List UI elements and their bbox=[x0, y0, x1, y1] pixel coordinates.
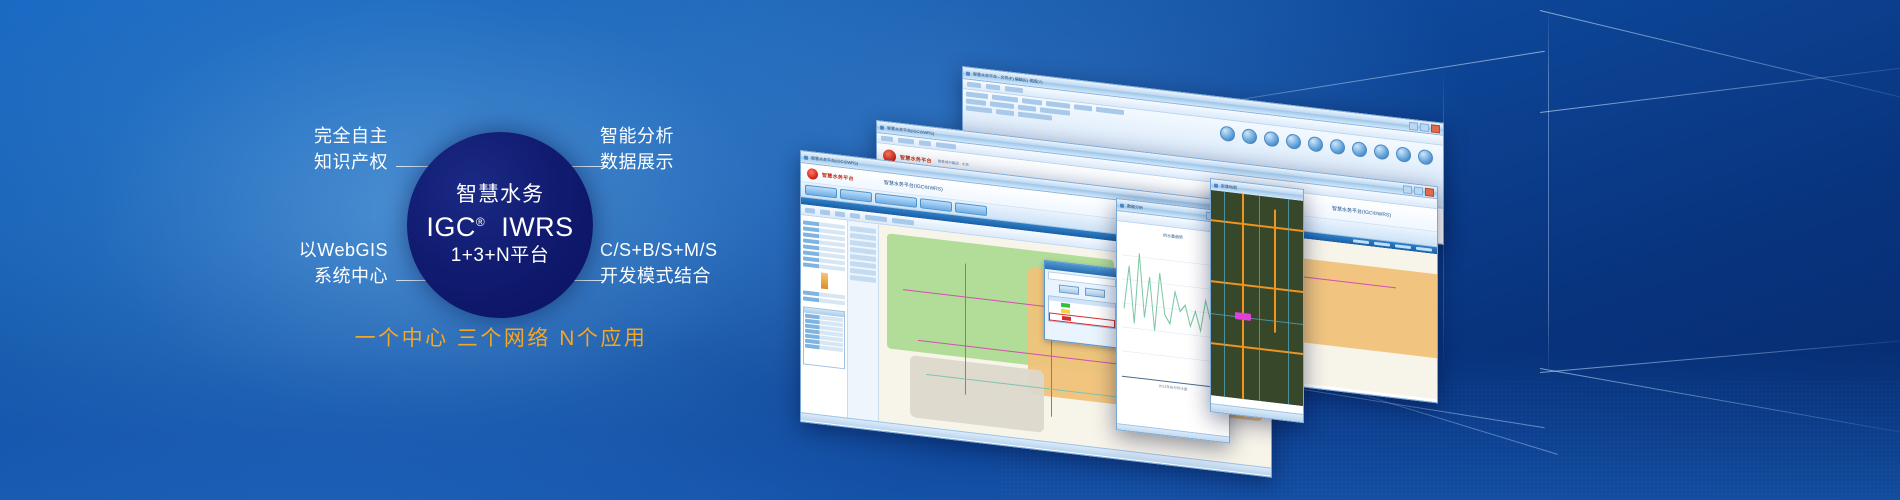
tagline: 一个中心 三个网络 N个应用 bbox=[286, 322, 716, 352]
grid-line-upper-right bbox=[1540, 60, 1900, 113]
menu-item[interactable] bbox=[881, 136, 893, 142]
maximize-icon[interactable] bbox=[1414, 186, 1423, 195]
ribbon-chip[interactable] bbox=[996, 109, 1014, 116]
banner-stage: 智慧水务平台 - 文件(F) 编辑(E) 视图(V) bbox=[0, 0, 1900, 500]
map-region-gray bbox=[910, 355, 1043, 432]
ribbon-chip[interactable] bbox=[1074, 104, 1092, 111]
feature-bottom-right-line2: 开发模式结合 bbox=[600, 264, 718, 290]
brand-label: 智慧水务平台 bbox=[822, 171, 854, 182]
help-icon[interactable] bbox=[1418, 149, 1433, 166]
tool-zoom-out[interactable] bbox=[835, 211, 845, 217]
feature-bottom-left: 以WebGIS 系统中心 bbox=[218, 238, 388, 289]
gis-layer-icon[interactable] bbox=[1220, 125, 1235, 142]
badge-cn-name: 智慧水务 bbox=[456, 183, 544, 207]
dialog-supply-grading[interactable] bbox=[1044, 260, 1120, 349]
badge-platform: 1+3+N平台 bbox=[451, 245, 550, 266]
window-icon bbox=[1120, 203, 1124, 207]
feature-top-right: 智能分析 数据展示 bbox=[600, 124, 674, 175]
window-icon bbox=[804, 155, 808, 159]
feature-top-right-line2: 数据展示 bbox=[600, 150, 674, 176]
water-line bbox=[1288, 199, 1289, 404]
tool-pan[interactable] bbox=[805, 207, 815, 213]
sub-tab-extra2[interactable] bbox=[1416, 247, 1432, 252]
window-stack: 智慧水务平台 - 文件(F) 编辑(E) 视图(V) bbox=[780, 30, 1460, 460]
inspection-icon[interactable] bbox=[1352, 141, 1367, 158]
print-icon[interactable] bbox=[1330, 138, 1345, 155]
statistics-icon[interactable] bbox=[1286, 133, 1301, 150]
menu-item[interactable] bbox=[936, 142, 956, 149]
window-icon bbox=[880, 125, 884, 129]
grid-line-mid-right bbox=[1540, 368, 1900, 444]
ribbon-chip[interactable] bbox=[966, 105, 992, 113]
sub-tab-online[interactable] bbox=[1374, 242, 1390, 247]
alarm-icon[interactable] bbox=[1264, 131, 1279, 148]
nav-button-gis[interactable] bbox=[875, 193, 917, 208]
window-icon bbox=[1214, 183, 1218, 187]
water-line bbox=[1224, 192, 1225, 397]
window-satellite[interactable]: 影像地图 bbox=[1210, 178, 1304, 423]
sub-tab-extra[interactable] bbox=[1395, 244, 1411, 249]
feature-top-left-line1: 完全自主 bbox=[218, 124, 388, 150]
minimize-icon[interactable] bbox=[1409, 121, 1418, 130]
menu-item[interactable] bbox=[967, 82, 981, 89]
dialog-confirm-button[interactable] bbox=[1059, 285, 1079, 295]
window-controls[interactable] bbox=[1403, 185, 1434, 197]
tool-select[interactable] bbox=[850, 212, 860, 218]
road-vertical bbox=[1274, 210, 1276, 333]
feature-top-left: 完全自主 知识产权 bbox=[218, 124, 388, 175]
ribbon-chip[interactable] bbox=[966, 98, 986, 105]
water-line bbox=[1259, 196, 1260, 401]
tool-measure[interactable] bbox=[865, 214, 887, 222]
grid-line-top-right bbox=[1540, 10, 1900, 111]
line-chart-svg bbox=[1122, 238, 1224, 370]
grade-swatch-red bbox=[1062, 316, 1071, 321]
titlebar-text: 影像地图 bbox=[1221, 183, 1237, 191]
window-icon bbox=[966, 71, 970, 75]
feature-bottom-left-line2: 系统中心 bbox=[218, 264, 388, 290]
company-logo-icon bbox=[807, 167, 818, 179]
road-vertical bbox=[1242, 194, 1244, 399]
close-icon[interactable] bbox=[1431, 124, 1440, 133]
maintenance-icon[interactable] bbox=[1374, 144, 1389, 161]
ribbon-chip[interactable] bbox=[1018, 105, 1036, 112]
dialog-table[interactable] bbox=[1048, 296, 1116, 330]
nav-button-analysis[interactable] bbox=[955, 202, 987, 216]
attribute-table[interactable] bbox=[803, 306, 845, 369]
nav-button-query[interactable] bbox=[805, 185, 837, 199]
chart-axis-label: 2013年各月供水量 bbox=[1122, 376, 1224, 397]
query-stats-icon[interactable] bbox=[1242, 128, 1257, 145]
badge-product-iwrs: IWRS bbox=[501, 212, 574, 242]
dialog-cancel-button[interactable] bbox=[1085, 288, 1105, 298]
tool-identify[interactable] bbox=[892, 217, 914, 225]
feature-top-right-line1: 智能分析 bbox=[600, 124, 674, 150]
legend-swatch bbox=[821, 272, 828, 289]
menu-item[interactable] bbox=[986, 84, 1000, 91]
tool-zoom-in[interactable] bbox=[820, 209, 830, 215]
grid-line-vertical-right bbox=[1548, 6, 1549, 378]
tool-palette[interactable] bbox=[848, 221, 879, 430]
gis-config-icon[interactable] bbox=[1396, 146, 1411, 163]
registered-mark-icon: ® bbox=[476, 215, 485, 229]
layer-tree[interactable] bbox=[801, 215, 848, 426]
satellite-map-canvas[interactable] bbox=[1211, 190, 1303, 406]
analysis-icon[interactable] bbox=[1308, 136, 1323, 153]
feature-bottom-left-line1: 以WebGIS bbox=[218, 238, 388, 264]
feature-top-left-line2: 知识产权 bbox=[218, 150, 388, 176]
pipe-line-branch bbox=[965, 263, 966, 394]
menu-item[interactable] bbox=[919, 140, 931, 146]
feature-bottom-right: C/S+B/S+M/S 开发模式结合 bbox=[600, 238, 718, 289]
minimize-icon[interactable] bbox=[1403, 185, 1412, 194]
maximize-icon[interactable] bbox=[1420, 123, 1429, 132]
nav-button-maintain[interactable] bbox=[920, 198, 952, 212]
feature-bottom-right-line1: C/S+B/S+M/S bbox=[600, 238, 718, 264]
nav-button-manage[interactable] bbox=[840, 189, 872, 203]
sub-tab-download[interactable] bbox=[1353, 239, 1369, 244]
center-badge: 智慧水务 IGC® IWRS 1+3+N平台 bbox=[407, 132, 593, 318]
menu-item[interactable] bbox=[898, 138, 914, 145]
palette-item[interactable] bbox=[850, 275, 876, 283]
badge-product-name: IGC® IWRS bbox=[426, 212, 573, 242]
titlebar-text: 数据分析 bbox=[1127, 203, 1143, 211]
grid-line-lower-right bbox=[1540, 337, 1900, 373]
window-controls[interactable] bbox=[1409, 121, 1440, 133]
ribbon-chip[interactable] bbox=[1022, 98, 1042, 105]
badge-product-igc: IGC bbox=[426, 212, 476, 242]
window-title-center: 智慧水务平台(IGC®IWRS) bbox=[884, 178, 943, 192]
window-title-center: 智慧水务平台(IGC®IWRS) bbox=[1332, 204, 1431, 223]
menu-item[interactable] bbox=[1005, 86, 1023, 93]
close-icon[interactable] bbox=[1425, 187, 1434, 196]
